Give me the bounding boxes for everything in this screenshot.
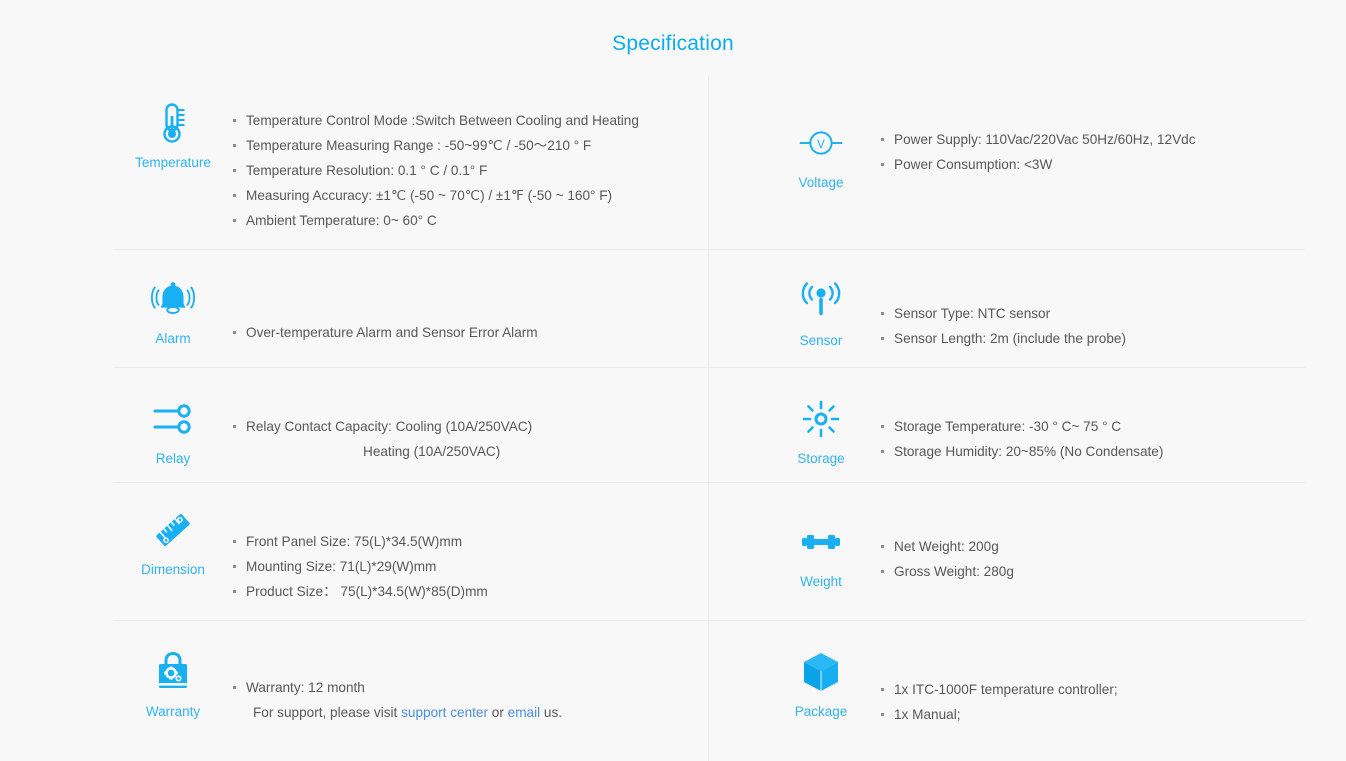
support-center-link[interactable]: support center	[401, 705, 488, 720]
spec-row: Warranty Warranty: 12 month For support,…	[113, 621, 1305, 761]
icon-column: Package	[761, 639, 881, 719]
icon-column: V Voltage	[761, 94, 881, 190]
spec-bullet: Ambient Temperature: 0~ 60° C	[233, 208, 694, 233]
bullet-list: Relay Contact Capacity: Cooling (10A/250…	[233, 386, 694, 464]
icon-column: Sensor	[761, 268, 881, 348]
spec-cell-relay: Relay Relay Contact Capacity: Cooling (1…	[113, 368, 709, 482]
spec-cell-storage: Storage Storage Temperature: -30 ° C~ 75…	[709, 368, 1305, 482]
support-suffix: us.	[540, 705, 562, 720]
email-link[interactable]: email	[508, 705, 540, 720]
spec-bullet: Gross Weight: 280g	[881, 559, 1305, 584]
icon-column: Dimension	[113, 501, 233, 577]
icon-column: Storage	[761, 386, 881, 466]
relay-switch-icon	[150, 396, 196, 442]
spec-bullet: Net Weight: 200g	[881, 534, 1305, 559]
spec-bullet: Storage Temperature: -30 ° C~ 75 ° C	[881, 414, 1305, 439]
support-middle: or	[488, 705, 508, 720]
spec-bullet: 1x Manual;	[881, 702, 1305, 727]
support-line: For support, please visit support center…	[233, 700, 694, 725]
bullet-list: Storage Temperature: -30 ° C~ 75 ° C Sto…	[881, 386, 1305, 464]
storage-sun-icon	[798, 396, 844, 442]
thermometer-icon	[150, 100, 196, 146]
icon-label: Storage	[797, 451, 844, 466]
spec-bullet: Temperature Control Mode :Switch Between…	[233, 108, 694, 133]
spec-bullet: Measuring Accuracy: ±1℃ (-50 ~ 70℃) / ±1…	[233, 183, 694, 208]
icon-label: Relay	[156, 451, 191, 466]
spec-bullet: Temperature Resolution: 0.1 ° C / 0.1° F	[233, 158, 694, 183]
page-title: Specification	[0, 32, 1346, 56]
icon-column: Weight	[761, 501, 881, 589]
spec-cell-voltage: V Voltage Power Supply: 110Vac/220Vac 50…	[709, 76, 1305, 249]
spec-row: Temperature Temperature Control Mode :Sw…	[113, 76, 1305, 250]
icon-label: Warranty	[146, 704, 200, 719]
alarm-bell-icon	[150, 276, 196, 322]
spec-bullet: Warranty: 12 month	[233, 675, 694, 700]
bullet-list: Over-temperature Alarm and Sensor Error …	[233, 268, 694, 345]
icon-column: Temperature	[113, 94, 233, 170]
icon-label: Sensor	[800, 333, 843, 348]
spec-bullet: Over-temperature Alarm and Sensor Error …	[233, 320, 694, 345]
spec-cell-weight: Weight Net Weight: 200g Gross Weight: 28…	[709, 483, 1305, 620]
spec-bullet: Mounting Size: 71(L)*29(W)mm	[233, 554, 694, 579]
svg-text:V: V	[817, 139, 825, 151]
icon-label: Voltage	[798, 175, 843, 190]
icon-column: Warranty	[113, 639, 233, 719]
spec-row: Dimension Front Panel Size: 75(L)*34.5(W…	[113, 483, 1305, 621]
spec-row: Alarm Over-temperature Alarm and Sensor …	[113, 250, 1305, 368]
spec-cell-warranty: Warranty Warranty: 12 month For support,…	[113, 621, 709, 761]
dumbbell-icon	[798, 519, 844, 565]
spec-bullet: Sensor Type: NTC sensor	[881, 301, 1305, 326]
spec-bullet: Temperature Measuring Range : -50~99℃ / …	[233, 133, 694, 158]
spec-bullet-continuation: Heating (10A/250VAC)	[233, 439, 694, 464]
package-box-icon	[798, 649, 844, 695]
bullet-list: Sensor Type: NTC sensor Sensor Length: 2…	[881, 268, 1305, 351]
ruler-icon	[150, 507, 196, 553]
icon-label: Package	[795, 704, 848, 719]
spec-cell-sensor: Sensor Sensor Type: NTC sensor Sensor Le…	[709, 250, 1305, 367]
spec-bullet: Power Supply: 110Vac/220Vac 50Hz/60Hz, 1…	[881, 127, 1305, 152]
icon-label: Weight	[800, 574, 842, 589]
sensor-antenna-icon	[798, 278, 844, 324]
icon-label: Dimension	[141, 562, 205, 577]
spec-cell-package: Package 1x ITC-1000F temperature control…	[709, 621, 1305, 761]
bullet-list: Temperature Control Mode :Switch Between…	[233, 94, 694, 233]
icon-column: Relay	[113, 386, 233, 466]
spec-cell-temperature: Temperature Temperature Control Mode :Sw…	[113, 76, 709, 249]
spec-bullet: Storage Humidity: 20~85% (No Condensate)	[881, 439, 1305, 464]
bullet-list: Front Panel Size: 75(L)*34.5(W)mm Mounti…	[233, 501, 694, 604]
spec-cell-alarm: Alarm Over-temperature Alarm and Sensor …	[113, 250, 709, 367]
spec-cell-dimension: Dimension Front Panel Size: 75(L)*34.5(W…	[113, 483, 709, 620]
support-prefix: For support, please visit	[253, 705, 401, 720]
spec-bullet: Front Panel Size: 75(L)*34.5(W)mm	[233, 529, 694, 554]
bullet-list: Net Weight: 200g Gross Weight: 280g	[881, 501, 1305, 584]
spec-row: Relay Relay Contact Capacity: Cooling (1…	[113, 368, 1305, 483]
spec-bullet: 1x ITC-1000F temperature controller;	[881, 677, 1305, 702]
voltmeter-icon: V	[798, 120, 844, 166]
icon-column: Alarm	[113, 268, 233, 346]
specification-page: Specification	[0, 0, 1346, 722]
bullet-list: Warranty: 12 month For support, please v…	[233, 639, 694, 725]
icon-label: Alarm	[155, 331, 190, 346]
spec-bullet: Relay Contact Capacity: Cooling (10A/250…	[233, 414, 694, 439]
icon-label: Temperature	[135, 155, 211, 170]
bullet-list: Power Supply: 110Vac/220Vac 50Hz/60Hz, 1…	[881, 94, 1305, 177]
specification-grid: Temperature Temperature Control Mode :Sw…	[113, 76, 1305, 761]
warranty-bag-icon	[150, 649, 196, 695]
bullet-list: 1x ITC-1000F temperature controller; 1x …	[881, 639, 1305, 727]
spec-bullet: Product Size： 75(L)*34.5(W)*85(D)mm	[233, 579, 694, 604]
spec-bullet: Power Consumption: <3W	[881, 152, 1305, 177]
spec-bullet: Sensor Length: 2m (include the probe)	[881, 326, 1305, 351]
